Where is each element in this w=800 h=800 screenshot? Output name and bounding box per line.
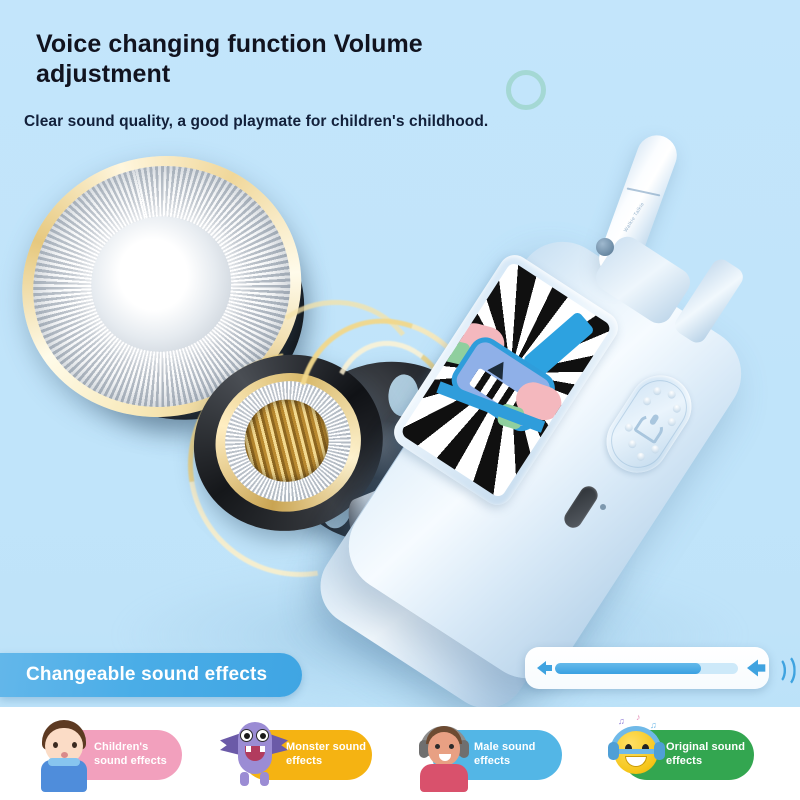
man-avatar [408,714,480,792]
device-mic-pinhole [600,504,606,510]
sound-effect-label: Male sound effects [474,741,562,769]
walkie-talkie-device: Walkie Talkie [300,140,770,680]
volume-slider-card[interactable] [525,647,769,689]
sound-effect-children[interactable]: Children's sound effects [52,730,182,780]
decorative-ring-icon [506,70,546,110]
cartoon-eye-icon [487,357,511,380]
volume-fill [555,663,701,674]
monster-avatar [218,714,290,792]
emoji-avatar: ♫♪♫ [598,714,670,792]
sound-effect-monster[interactable]: Monster sound effects [242,730,372,780]
volume-track[interactable] [555,663,738,674]
antenna-seam [627,187,661,196]
sound-effect-original[interactable]: ♫♪♫ Original sound effects [622,730,754,780]
speaker-dust-cap [112,237,209,328]
sound-effect-label: Original sound effects [666,741,754,769]
page-title: Voice changing function Volume adjustmen… [36,30,506,89]
antenna-screw-icon [596,238,614,256]
changeable-sound-effects-banner: Changeable sound effects [0,653,302,697]
sound-effect-male[interactable]: Male sound effects [432,730,562,780]
page-subtitle: Clear sound quality, a good playmate for… [24,113,564,131]
child-avatar [28,714,100,792]
banner-label: Changeable sound effects [26,664,267,686]
speaker-low-icon[interactable] [537,661,546,675]
promo-image: Voice changing function Volume adjustmen… [0,0,800,800]
antenna-label: Walkie Talkie [623,203,645,233]
sound-effect-label: Monster sound effects [286,741,372,769]
sound-effect-label: Children's sound effects [94,741,182,769]
speaker-high-icon[interactable] [747,659,758,676]
sound-effect-list: Children's sound effects Monster sound e… [0,718,800,792]
